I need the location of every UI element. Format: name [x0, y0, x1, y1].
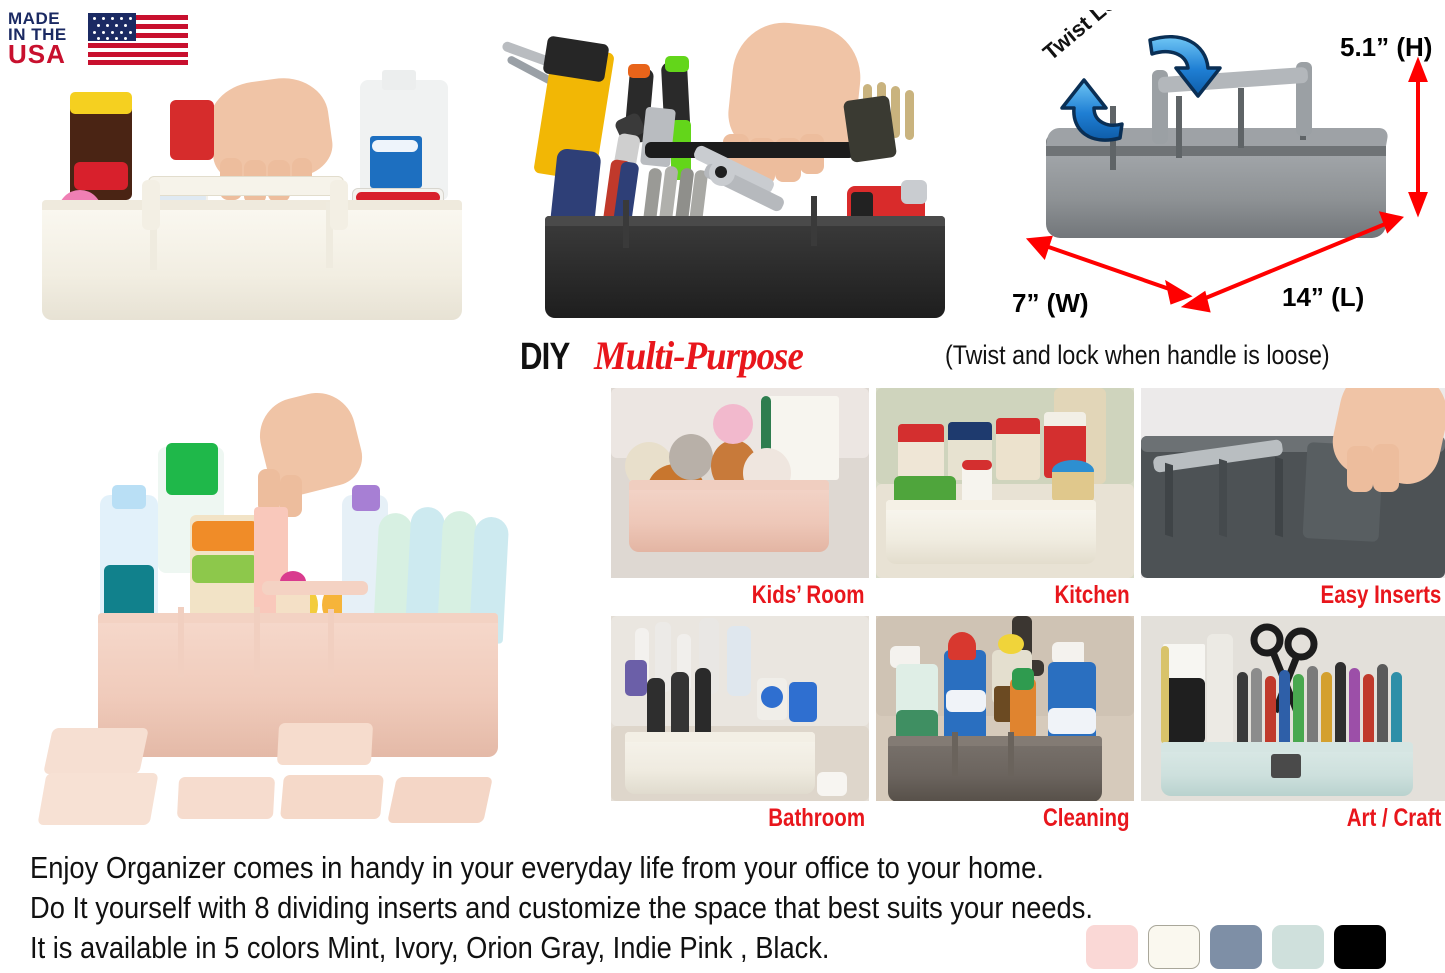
divider-insert: [387, 777, 493, 823]
use-case-label-art-craft: Art / Craft: [1346, 803, 1441, 833]
use-case-cleaning: Cleaning: [876, 616, 1134, 833]
color-swatch-black: [1334, 925, 1386, 969]
color-swatch-mint: [1272, 925, 1324, 969]
dimension-width-label: 7” (W): [1012, 288, 1089, 319]
color-swatch-ivory: [1148, 925, 1200, 969]
twist-lock-note: (Twist and lock when handle is loose): [945, 340, 1330, 371]
use-case-kitchen: Kitchen: [876, 388, 1134, 610]
color-swatch-row: [1086, 925, 1386, 969]
divider-insert: [37, 773, 158, 825]
headline-diy: DIY: [520, 336, 569, 379]
dimension-length-label: 14” (L): [1282, 282, 1364, 313]
made-in-usa-text: MADE IN THE USA: [8, 11, 86, 66]
color-swatch-orion-gray: [1210, 925, 1262, 969]
use-case-label-cleaning: Cleaning: [1043, 803, 1130, 833]
photo-ivory-caddy-medicine: [30, 70, 490, 320]
headline-multi-purpose: Multi-Purpose: [594, 332, 803, 379]
use-case-grid: Kids’ Room: [611, 388, 1445, 833]
flag-canton: [88, 13, 136, 41]
use-case-label-kitchen: Kitchen: [1055, 580, 1130, 610]
use-case-label-kids-room: Kids’ Room: [752, 580, 865, 610]
product-infographic: MADE IN THE USA: [0, 0, 1445, 973]
footer-line-2: Do It yourself with 8 dividing inserts a…: [30, 888, 1262, 928]
twist-lock-label: Twist Lock: [1038, 10, 1141, 66]
use-case-kids-room: Kids’ Room: [611, 388, 869, 610]
divider-insert: [280, 775, 384, 819]
color-swatch-indie-pink: [1086, 925, 1138, 969]
use-case-easy-inserts: Easy Inserts: [1141, 388, 1445, 610]
diagram-dimensions: Twist Lock 5.1” (H) 7” (W) 14” (L): [1000, 10, 1445, 330]
dimension-height-label: 5.1” (H): [1340, 32, 1432, 63]
divider-insert: [277, 723, 373, 765]
use-case-label-easy-inserts: Easy Inserts: [1320, 580, 1441, 610]
divider-insert: [43, 728, 149, 774]
photo-black-caddy-tools: [495, 20, 965, 320]
usa-flag-icon: [88, 13, 188, 65]
use-case-art-craft: Art / Craft: [1141, 616, 1445, 833]
use-case-bathroom: Bathroom: [611, 616, 869, 833]
use-case-label-bathroom: Bathroom: [768, 803, 865, 833]
footer-line-3: It is available in 5 colors Mint, Ivory,…: [30, 928, 1262, 968]
photo-pink-caddy-baby: [30, 385, 590, 835]
made-in-usa-badge: MADE IN THE USA: [8, 8, 188, 70]
headline-diy-multi-purpose: DIY Multi-Purpose: [520, 332, 821, 379]
divider-insert: [177, 777, 275, 819]
footer-line-1: Enjoy Organizer comes in handy in your e…: [30, 848, 1262, 888]
badge-line-3: USA: [8, 43, 86, 67]
